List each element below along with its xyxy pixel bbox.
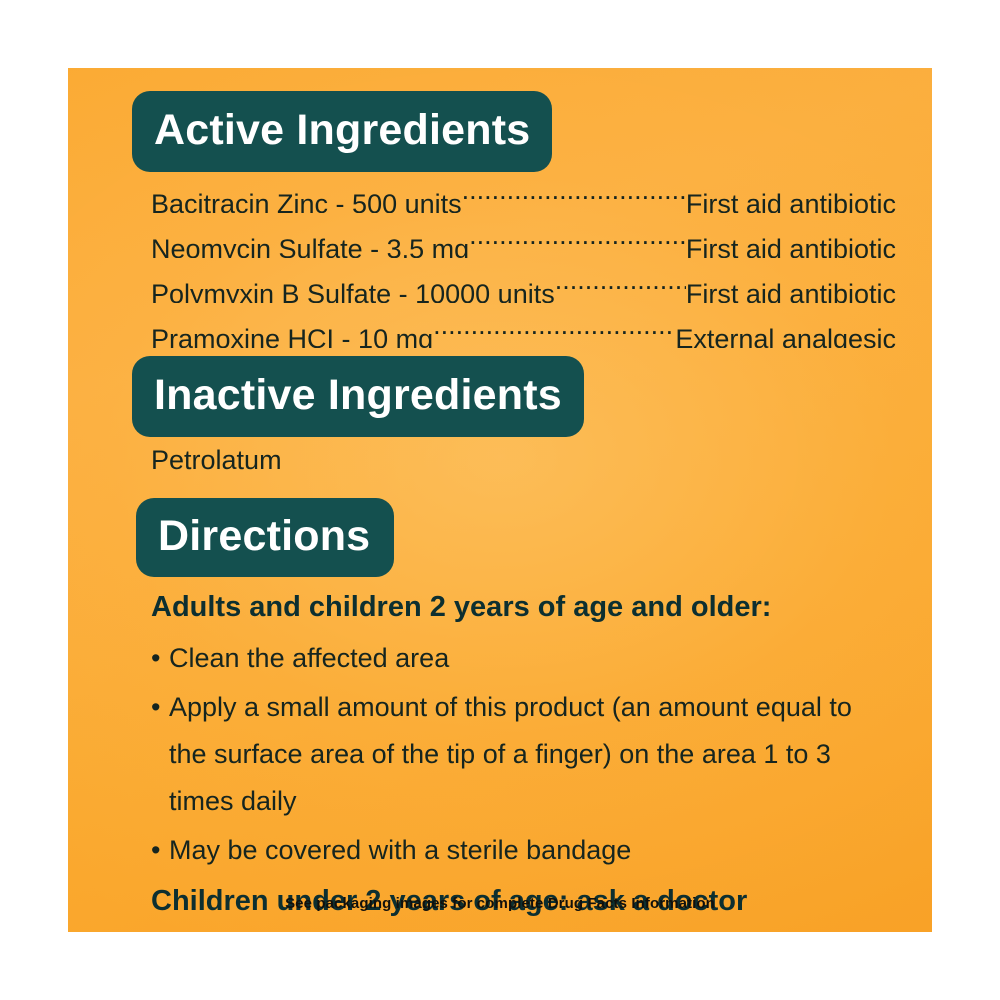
packaging-footnote: See packaging images for complete Drug F…	[68, 895, 932, 912]
directions-bullet-list: • Clean the affected area • Apply a smal…	[151, 635, 911, 874]
drug-facts-panel: Active Ingredients Bacitracin Zinc - 500…	[68, 68, 932, 932]
active-ingredients-list: Bacitracin Zinc - 500 units First aid an…	[151, 168, 896, 348]
active-ingredient-row: Neomycin Sulfate - 3.5 mg First aid anti…	[151, 213, 896, 258]
directions-heading: Directions	[136, 498, 394, 577]
directions-age-heading: Adults and children 2 years of age and o…	[151, 586, 911, 628]
bullet-dot-icon: •	[151, 684, 169, 731]
directions-bullet-item: • May be covered with a sterile bandage	[151, 827, 911, 874]
ingredient-purpose: External analgesic	[675, 317, 896, 348]
ingredient-name: Neomycin Sulfate - 3.5 mg	[151, 227, 469, 258]
dot-leader	[433, 303, 675, 348]
dot-leader	[555, 258, 686, 303]
bullet-dot-icon: •	[151, 827, 169, 874]
active-ingredient-row: Pramoxine HCI - 10 mg External analgesic	[151, 303, 896, 348]
inactive-ingredients-heading: Inactive Ingredients	[132, 356, 584, 437]
ingredient-purpose: First aid antibiotic	[686, 272, 896, 303]
active-ingredients-heading: Active Ingredients	[132, 91, 552, 172]
inactive-ingredients-body: Petrolatum	[151, 445, 282, 476]
directions-bullet-item: • Clean the affected area	[151, 635, 911, 682]
ingredient-name: Pramoxine HCI - 10 mg	[151, 317, 433, 348]
active-ingredient-row: Polymyxin B Sulfate - 10000 units First …	[151, 258, 896, 303]
dot-leader	[469, 213, 686, 258]
drug-facts-graphic: Active Ingredients Bacitracin Zinc - 500…	[0, 0, 1000, 1000]
ingredient-purpose: First aid antibiotic	[686, 182, 896, 213]
directions-bullet-text: Apply a small amount of this product (an…	[169, 684, 869, 825]
ingredient-purpose: First aid antibiotic	[686, 227, 896, 258]
directions-bullet-text: Clean the affected area	[169, 635, 869, 682]
active-ingredient-row: Bacitracin Zinc - 500 units First aid an…	[151, 168, 896, 213]
directions-bullet-text: May be covered with a sterile bandage	[169, 827, 869, 874]
directions-content: Adults and children 2 years of age and o…	[151, 586, 911, 922]
dot-leader	[462, 168, 686, 213]
directions-bullet-item: • Apply a small amount of this product (…	[151, 684, 911, 825]
bullet-dot-icon: •	[151, 635, 169, 682]
ingredient-name: Polymyxin B Sulfate - 10000 units	[151, 272, 555, 303]
ingredient-name: Bacitracin Zinc - 500 units	[151, 182, 462, 213]
